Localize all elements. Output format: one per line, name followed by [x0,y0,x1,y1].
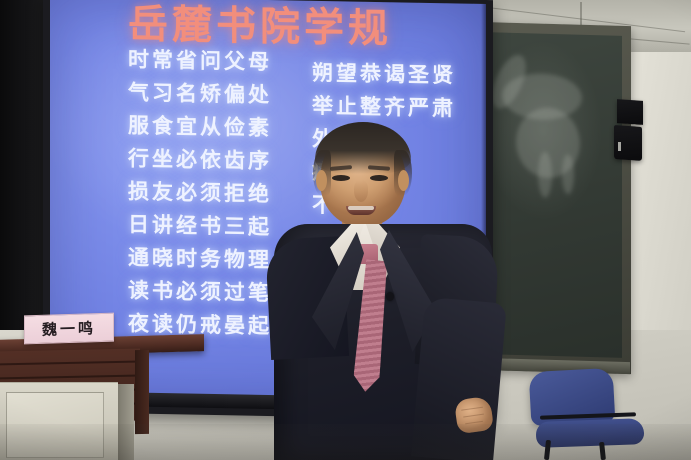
teeth [348,206,374,210]
slide-left-column: 时常省问父母 气习名矫偏处 服食宜从俭素 行坐必依齿序 损友必须拒绝 日讲经书三… [128,43,272,343]
wall-speaker-icon [617,99,643,125]
floor-shadow [0,424,691,460]
ear-right [398,170,409,191]
slide-line: 日讲经书三起 [128,208,272,244]
slide-line: 朔望恭谒圣贤 [312,57,456,93]
left-dark-wall [0,0,46,330]
eye-right [370,175,388,181]
presenter [268,120,498,460]
name-placard: 魏一鸣 [24,313,114,345]
lapel-microphone-icon [386,292,394,301]
slide-line: 损友必须拒绝 [128,175,272,211]
slide-line: 通晓时务物理 [128,241,272,277]
slide-line: 服食宜从俭素 [128,109,272,145]
slide-line: 读书必须过笔 [128,274,272,310]
slide-line: 气习名矫偏处 [128,76,272,112]
eye-left [332,175,350,181]
name-placard-text: 魏一鸣 [42,317,96,340]
slide-line: 时常省问父母 [128,43,272,79]
podium-side [135,350,149,434]
ear-left [316,170,327,191]
slide-line: 行坐必依齿序 [128,142,272,178]
nose [354,180,368,202]
lecture-photo: 岳麓书院学规 时常省问父母 气习名矫偏处 服食宜从俭素 行坐必依齿序 损友必须拒… [0,0,691,460]
wall-speaker-indicator [618,142,621,151]
chalkboard [486,32,622,358]
